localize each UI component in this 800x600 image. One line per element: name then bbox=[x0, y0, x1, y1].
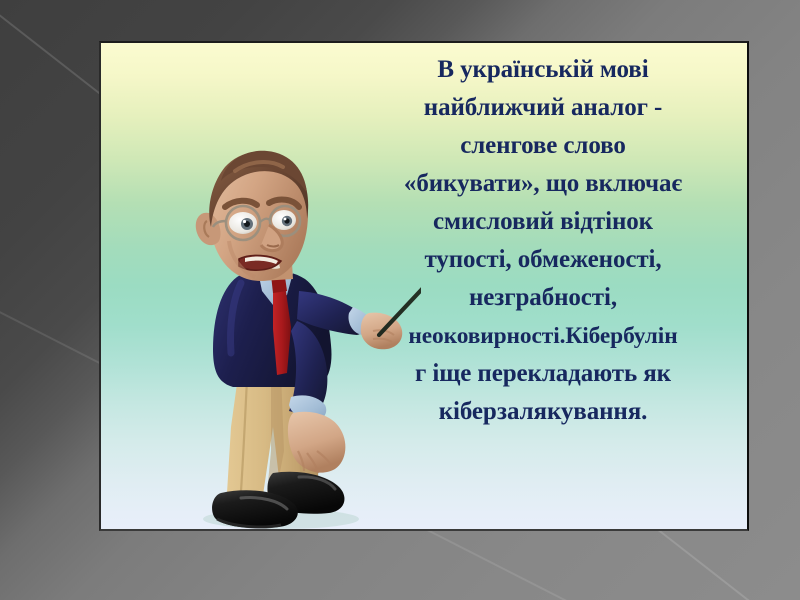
text-line-4: «бикувати», що включає bbox=[339, 165, 747, 203]
presentation-slide: В українській мові найближчий аналог - с… bbox=[0, 0, 800, 600]
text-line-8: неоковирності.Кібербулін bbox=[339, 317, 747, 355]
slide-content-panel: В українській мові найближчий аналог - с… bbox=[99, 41, 749, 531]
text-line-10: кіберзалякування. bbox=[339, 393, 747, 431]
text-line-5: смисловий відтінок bbox=[339, 203, 747, 241]
text-line-7: незграбності, bbox=[339, 279, 747, 317]
slide-body-text: В українській мові найближчий аналог - с… bbox=[339, 51, 747, 431]
text-line-2: найближчий аналог - bbox=[339, 89, 747, 127]
eye-left-glint bbox=[243, 220, 246, 223]
text-line-1: В українській мові bbox=[339, 51, 747, 89]
text-line-3: сленгове слово bbox=[339, 127, 747, 165]
text-line-6: тупості, обмеженості, bbox=[339, 241, 747, 279]
text-line-9: г іще перекладають як bbox=[339, 355, 747, 393]
eye-right-glint bbox=[284, 218, 287, 221]
